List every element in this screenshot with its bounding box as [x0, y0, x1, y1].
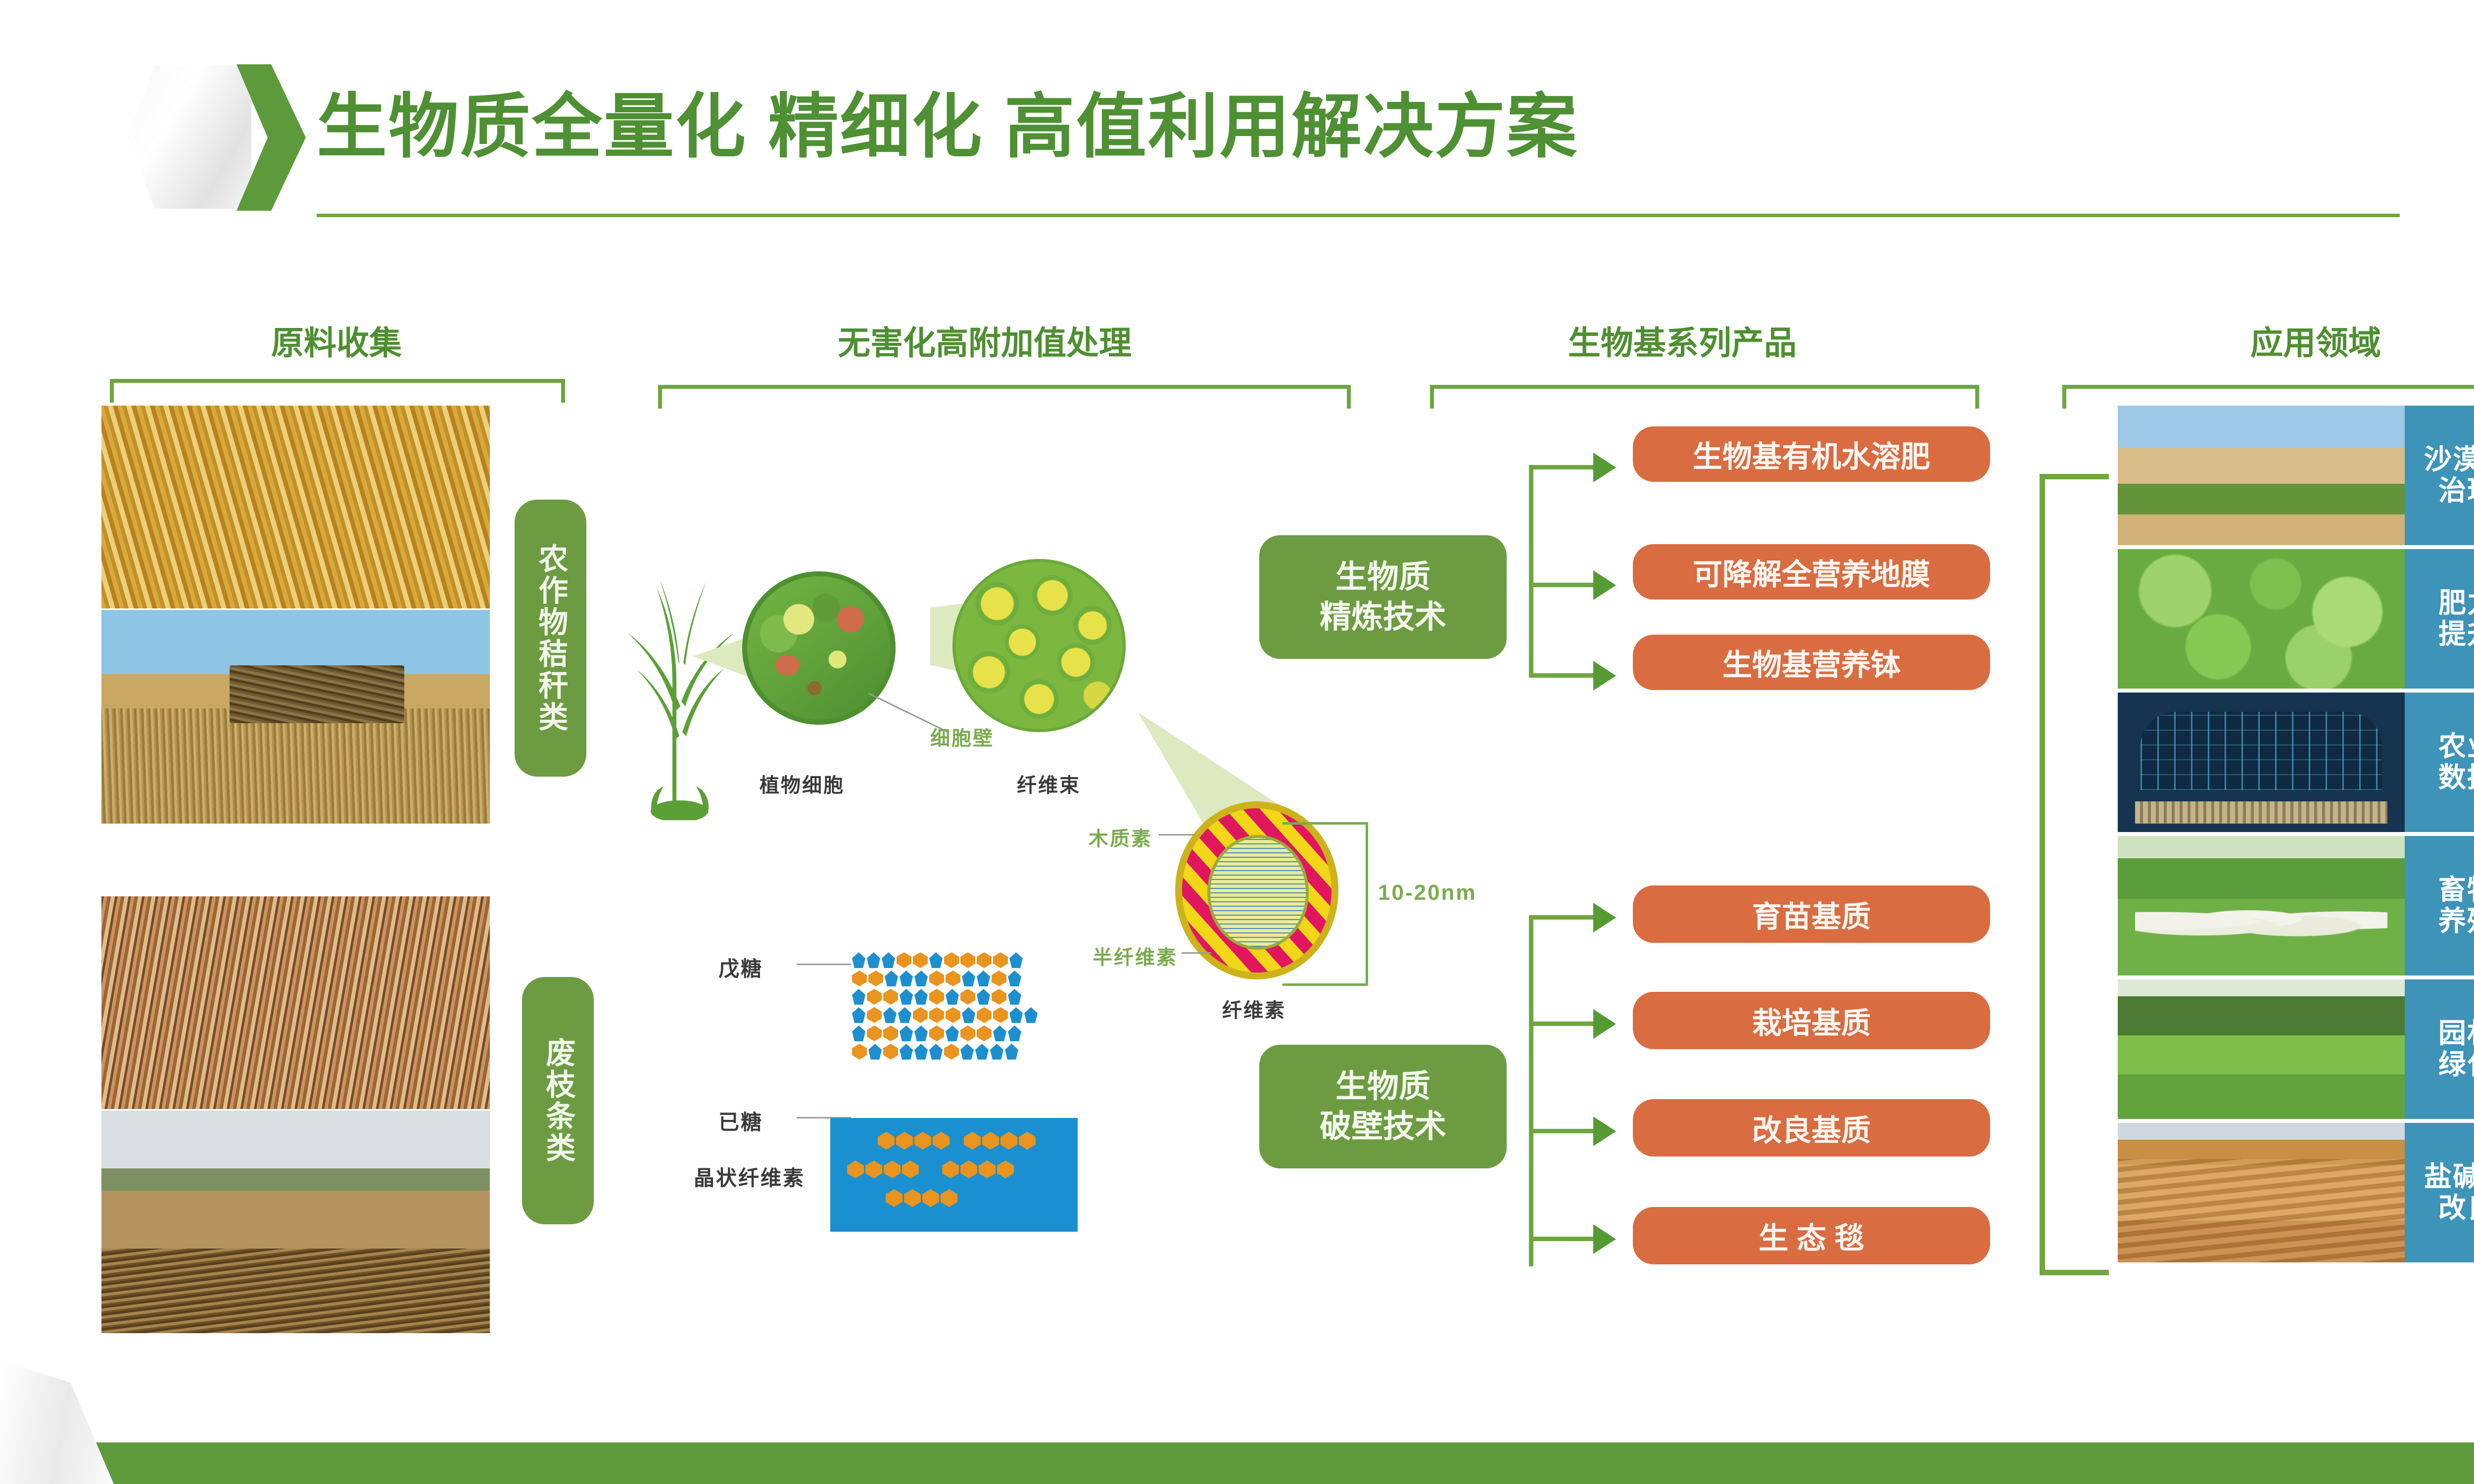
label-cellulose: 纤维素: [1222, 994, 1286, 1023]
application-tag-livestock[interactable]: 畜牧 养殖: [2405, 836, 2474, 975]
arrow-refining-2: [1593, 570, 1616, 600]
landscape-greening-photo: [2118, 979, 2405, 1119]
label-pentose: 戊糖: [718, 952, 763, 982]
connector-spine-refining: [1529, 465, 1533, 678]
label-hemicellulose: 半纤维素: [1093, 941, 1178, 970]
application-label-line2: 改良: [2424, 1193, 2474, 1224]
application-bracket-spine: [2040, 474, 2045, 1275]
label-cell-wall: 细胞壁: [930, 722, 994, 751]
application-label-line2: 绿化: [2438, 1049, 2474, 1080]
application-row-desert[interactable]: 沙漠化 治理: [2118, 406, 2474, 545]
title-underline: [317, 214, 2400, 217]
connector-branch-refining-1: [1529, 465, 1598, 469]
section-bracket-proc: [658, 385, 1351, 409]
arrow-wb-4: [1593, 1224, 1616, 1254]
connector-branch-wb-1: [1529, 915, 1598, 920]
pentose-leader-line: [797, 964, 851, 965]
photo-crop-straw-field: [101, 406, 490, 608]
section-header-proc: 无害化高附加值处理: [564, 317, 1405, 364]
cellulose-core-lattice: [1207, 835, 1309, 950]
application-row-fertility[interactable]: 肥力 提升: [2118, 549, 2474, 689]
application-tag-desert[interactable]: 沙漠化 治理: [2405, 406, 2474, 545]
connector-branch-wb-3: [1529, 1129, 1598, 1133]
raw-category-crop-straw[interactable]: 农作物秸秆类: [515, 500, 586, 777]
label-plant-cell: 植物细胞: [760, 769, 845, 798]
crystalline-cellulose-diagram: [830, 1118, 1078, 1232]
product-improvement-substrate[interactable]: 改良基质: [1633, 1099, 1990, 1157]
connector-branch-refining-2: [1529, 583, 1598, 587]
application-tag-greening[interactable]: 园林 绿化: [2405, 979, 2474, 1119]
application-label-line1: 畜牧: [2438, 875, 2474, 906]
label-lignin: 木质素: [1089, 823, 1152, 851]
product-ecological-blanket[interactable]: 生 态 毯: [1633, 1207, 1990, 1264]
tech-label-line2: 精炼技术: [1320, 597, 1446, 637]
dimension-tick-top: [1283, 822, 1368, 825]
application-bracket-bottom: [2040, 1270, 2109, 1275]
section-bracket-prod: [1430, 385, 1979, 409]
application-label-line2: 养殖: [2438, 906, 2474, 937]
footer-wedge-decoration: [0, 1360, 114, 1484]
connector-branch-refining-3: [1529, 673, 1598, 678]
application-tag-agri-data[interactable]: 农业 数据: [2405, 693, 2474, 832]
application-tag-saline[interactable]: 盐碱地 改良: [2405, 1123, 2474, 1262]
application-label-line2: 数据: [2438, 762, 2474, 793]
application-row-greening[interactable]: 园林 绿化: [2118, 979, 2474, 1119]
section-header-raw: 原料收集: [148, 317, 524, 364]
arrow-refining-1: [1593, 453, 1616, 482]
application-label-line1: 园林: [2438, 1018, 2474, 1049]
application-bracket-top: [2040, 474, 2109, 479]
application-label-line1: 盐碱地: [2424, 1161, 2474, 1193]
hemicellulose-leader-line: [1182, 952, 1211, 954]
application-label-line2: 治理: [2424, 475, 2474, 507]
application-label-line1: 农业: [2438, 731, 2474, 762]
section-bracket-apply: [2062, 385, 2474, 409]
lignin-leader-line: [1159, 834, 1194, 835]
connector-branch-wb-4: [1529, 1237, 1598, 1241]
application-tag-fertility[interactable]: 肥力 提升: [2405, 549, 2474, 689]
saline-alkali-land-photo: [2118, 1123, 2405, 1262]
technology-biomass-refining[interactable]: 生物质 精炼技术: [1259, 535, 1507, 659]
label-fiber-bundle: 纤维束: [1017, 769, 1081, 798]
product-cultivation-substrate[interactable]: 栽培基质: [1633, 992, 1990, 1049]
product-bio-based-nutrient-pot[interactable]: 生物基营养钵: [1633, 635, 1990, 690]
plant-cell-illustration: [742, 571, 896, 725]
photo-straw-bale-field: [101, 610, 490, 824]
raw-category-waste-branches[interactable]: 废枝条类: [522, 977, 594, 1224]
label-hexose: 已糖: [718, 1106, 763, 1136]
section-header-apply: 应用领域: [2068, 317, 2474, 364]
application-label-line1: 沙漠化: [2424, 444, 2474, 475]
sugar-chain-diagram: [852, 952, 1039, 1062]
arrow-wb-2: [1593, 1009, 1616, 1039]
application-label-line2: 提升: [2438, 619, 2474, 650]
tech-label-line1: 生物质: [1320, 1067, 1446, 1107]
arrow-refining-3: [1593, 661, 1616, 691]
vegetable-field-photo: [2118, 549, 2405, 689]
product-bio-organic-water-soluble-fertilizer[interactable]: 生物基有机水溶肥: [1633, 426, 1990, 482]
photo-pruned-branches: [101, 896, 490, 1109]
desert-restoration-photo: [2118, 406, 2405, 545]
tech-label-line2: 破壁技术: [1320, 1107, 1446, 1147]
agriculture-data-screen-photo: [2118, 693, 2405, 832]
hexagon-decoration: [128, 65, 251, 209]
grazing-sheep-photo: [2118, 836, 2405, 975]
arrow-wb-3: [1593, 1116, 1616, 1146]
section-header-prod: 生物基系列产品: [1385, 317, 1979, 364]
connector-branch-wb-2: [1529, 1021, 1598, 1026]
dimension-line-vertical: [1366, 822, 1368, 985]
tech-label-line1: 生物质: [1320, 557, 1446, 597]
label-crystalline-cellulose: 晶状纤维素: [694, 1161, 805, 1192]
infographic-slide: 生物质全量化 精细化 高值利用解决方案 原料收集 无害化高附加值处理 生物基系列…: [0, 0, 2474, 1484]
grass-plant-icon: [621, 558, 740, 820]
fiber-bundle-illustration: [952, 559, 1126, 732]
product-seedling-substrate[interactable]: 育苗基质: [1633, 885, 1990, 943]
connector-spine-wallbreaking: [1529, 915, 1533, 1266]
technology-biomass-wall-breaking[interactable]: 生物质 破壁技术: [1259, 1045, 1507, 1168]
application-row-agri-data[interactable]: 农业 数据: [2118, 693, 2474, 832]
application-label-line1: 肥力: [2438, 588, 2474, 619]
photo-orchard-pruning: [101, 1111, 490, 1333]
dimension-tick-bottom: [1283, 983, 1368, 986]
label-fiber-dimension: 10-20nm: [1378, 881, 1477, 905]
application-row-livestock[interactable]: 畜牧 养殖: [2118, 836, 2474, 975]
product-degradable-full-nutrient-mulch-film[interactable]: 可降解全营养地膜: [1633, 544, 1990, 600]
footer-bar: [0, 1442, 2474, 1484]
section-bracket-raw: [110, 379, 565, 403]
application-row-saline[interactable]: 盐碱地 改良: [2118, 1123, 2474, 1262]
page-title: 生物质全量化 精细化 高值利用解决方案: [317, 83, 1578, 171]
arrow-wb-1: [1593, 903, 1616, 932]
